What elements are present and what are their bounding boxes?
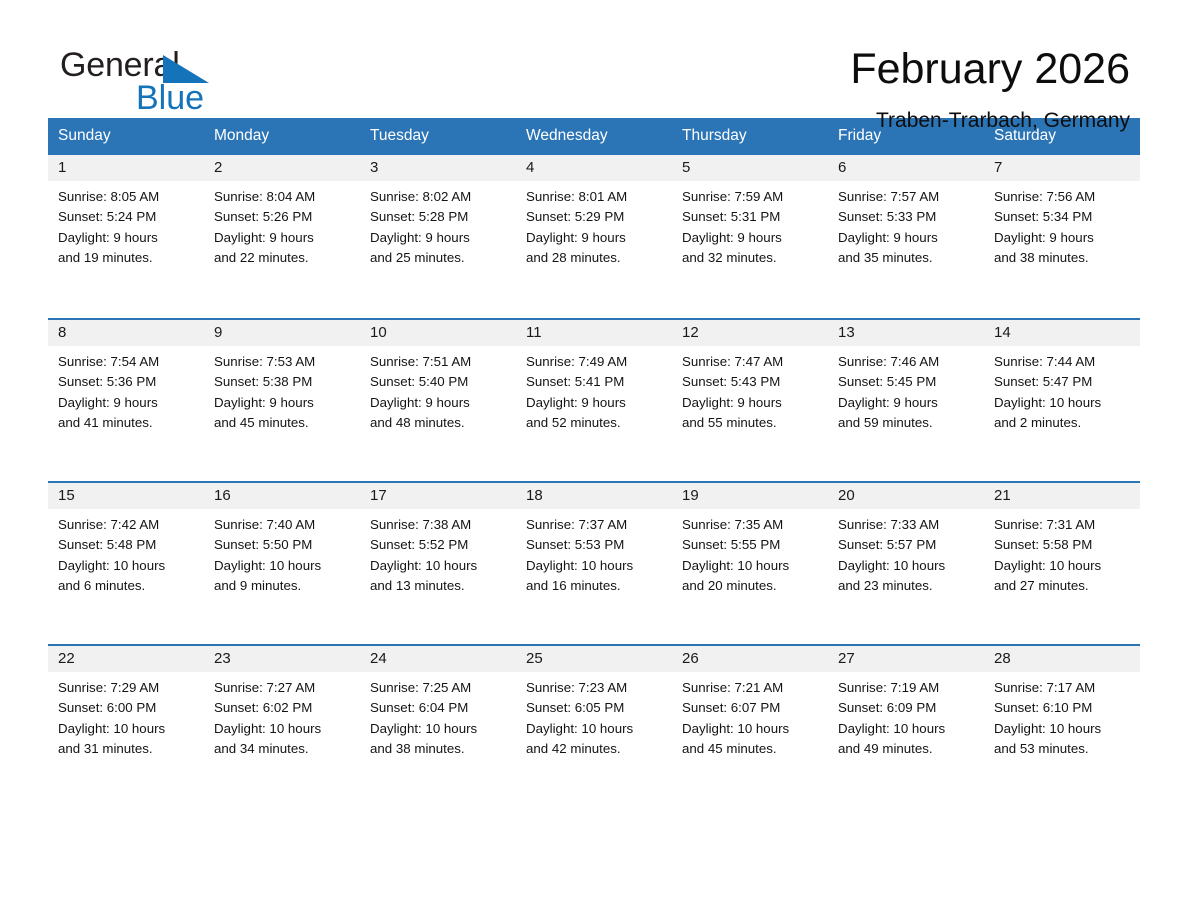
- sunset-text: Sunset: 5:57 PM: [838, 535, 976, 555]
- day-number: 1: [58, 159, 66, 176]
- sunset-text: Sunset: 5:38 PM: [214, 372, 352, 392]
- day-number-band: 23: [204, 646, 360, 672]
- sunset-text: Sunset: 6:02 PM: [214, 698, 352, 718]
- daylight-text-line1: Daylight: 10 hours: [838, 556, 976, 576]
- day-cell[interactable]: 3 Sunrise: 8:02 AM Sunset: 5:28 PM Dayli…: [360, 155, 516, 318]
- day-details: Sunrise: 8:05 AM Sunset: 5:24 PM Dayligh…: [48, 181, 204, 269]
- daylight-text-line2: and 45 minutes.: [682, 739, 820, 759]
- daylight-text-line1: Daylight: 9 hours: [994, 228, 1132, 248]
- table-cell[interactable]: 11 Sunrise: 7:49 AM Sunset: 5:41 PM Dayl…: [516, 318, 672, 481]
- day-cell[interactable]: 17 Sunrise: 7:38 AM Sunset: 5:52 PM Dayl…: [360, 481, 516, 644]
- daylight-text-line1: Daylight: 9 hours: [526, 393, 664, 413]
- day-number: 18: [526, 487, 543, 504]
- table-cell[interactable]: 20 Sunrise: 7:33 AM Sunset: 5:57 PM Dayl…: [828, 481, 984, 644]
- day-details: Sunrise: 7:47 AM Sunset: 5:43 PM Dayligh…: [672, 346, 828, 434]
- sunrise-text: Sunrise: 7:49 AM: [526, 352, 664, 372]
- day-number: 15: [58, 487, 75, 504]
- sunset-text: Sunset: 5:55 PM: [682, 535, 820, 555]
- calendar-week-row: 15 Sunrise: 7:42 AM Sunset: 5:48 PM Dayl…: [48, 481, 1140, 644]
- sunset-text: Sunset: 5:40 PM: [370, 372, 508, 392]
- day-cell[interactable]: 10 Sunrise: 7:51 AM Sunset: 5:40 PM Dayl…: [360, 318, 516, 481]
- weekday-header-thursday: Thursday: [672, 118, 828, 155]
- daylight-text-line1: Daylight: 9 hours: [370, 393, 508, 413]
- day-number-band: 9: [204, 320, 360, 346]
- sunset-text: Sunset: 6:04 PM: [370, 698, 508, 718]
- table-cell[interactable]: 18 Sunrise: 7:37 AM Sunset: 5:53 PM Dayl…: [516, 481, 672, 644]
- daylight-text-line1: Daylight: 10 hours: [58, 556, 196, 576]
- daylight-text-line1: Daylight: 9 hours: [838, 393, 976, 413]
- sunset-text: Sunset: 5:36 PM: [58, 372, 196, 392]
- sunset-text: Sunset: 5:34 PM: [994, 207, 1132, 227]
- day-number: 10: [370, 324, 387, 341]
- daylight-text-line2: and 27 minutes.: [994, 576, 1132, 596]
- calendar-page: General Blue February 2026 Traben-Trarba…: [0, 0, 1188, 918]
- day-number-band: 27: [828, 646, 984, 672]
- sunrise-text: Sunrise: 7:47 AM: [682, 352, 820, 372]
- day-number: 17: [370, 487, 387, 504]
- daylight-text-line1: Daylight: 10 hours: [370, 719, 508, 739]
- table-cell[interactable]: 16 Sunrise: 7:40 AM Sunset: 5:50 PM Dayl…: [204, 481, 360, 644]
- daylight-text-line1: Daylight: 10 hours: [214, 719, 352, 739]
- day-number: 26: [682, 650, 699, 667]
- day-cell[interactable]: 23 Sunrise: 7:27 AM Sunset: 6:02 PM Dayl…: [204, 644, 360, 807]
- sunset-text: Sunset: 6:10 PM: [994, 698, 1132, 718]
- daylight-text-line1: Daylight: 9 hours: [370, 228, 508, 248]
- day-cell[interactable]: 14 Sunrise: 7:44 AM Sunset: 5:47 PM Dayl…: [984, 318, 1140, 481]
- table-cell[interactable]: 1 Sunrise: 8:05 AM Sunset: 5:24 PM Dayli…: [48, 155, 204, 318]
- daylight-text-line2: and 25 minutes.: [370, 248, 508, 268]
- day-details: Sunrise: 7:46 AM Sunset: 5:45 PM Dayligh…: [828, 346, 984, 434]
- day-number: 7: [994, 159, 1002, 176]
- daylight-text-line1: Daylight: 9 hours: [58, 228, 196, 248]
- day-cell[interactable]: 7 Sunrise: 7:56 AM Sunset: 5:34 PM Dayli…: [984, 155, 1140, 318]
- table-cell[interactable]: 25 Sunrise: 7:23 AM Sunset: 6:05 PM Dayl…: [516, 644, 672, 807]
- sunset-text: Sunset: 5:47 PM: [994, 372, 1132, 392]
- day-number: 25: [526, 650, 543, 667]
- day-details: Sunrise: 7:51 AM Sunset: 5:40 PM Dayligh…: [360, 346, 516, 434]
- day-details: Sunrise: 7:42 AM Sunset: 5:48 PM Dayligh…: [48, 509, 204, 597]
- sunset-text: Sunset: 5:58 PM: [994, 535, 1132, 555]
- daylight-text-line2: and 59 minutes.: [838, 413, 976, 433]
- day-number: 19: [682, 487, 699, 504]
- day-cell[interactable]: 2 Sunrise: 8:04 AM Sunset: 5:26 PM Dayli…: [204, 155, 360, 318]
- page-header: General Blue February 2026 Traben-Trarba…: [48, 0, 1140, 118]
- day-number-band: 7: [984, 155, 1140, 181]
- day-cell[interactable]: 15 Sunrise: 7:42 AM Sunset: 5:48 PM Dayl…: [48, 481, 204, 644]
- day-cell[interactable]: 4 Sunrise: 8:01 AM Sunset: 5:29 PM Dayli…: [516, 155, 672, 318]
- sunrise-text: Sunrise: 8:01 AM: [526, 187, 664, 207]
- day-details: Sunrise: 8:02 AM Sunset: 5:28 PM Dayligh…: [360, 181, 516, 269]
- day-details: Sunrise: 7:44 AM Sunset: 5:47 PM Dayligh…: [984, 346, 1140, 434]
- day-details: Sunrise: 7:49 AM Sunset: 5:41 PM Dayligh…: [516, 346, 672, 434]
- day-cell[interactable]: 8 Sunrise: 7:54 AM Sunset: 5:36 PM Dayli…: [48, 318, 204, 481]
- daylight-text-line1: Daylight: 9 hours: [838, 228, 976, 248]
- day-number-band: 10: [360, 320, 516, 346]
- daylight-text-line1: Daylight: 9 hours: [214, 228, 352, 248]
- location-subtitle: Traben-Trarbach, Germany: [850, 108, 1130, 134]
- day-number: 20: [838, 487, 855, 504]
- table-cell[interactable]: 7 Sunrise: 7:56 AM Sunset: 5:34 PM Dayli…: [984, 155, 1140, 318]
- sunset-text: Sunset: 6:00 PM: [58, 698, 196, 718]
- sunset-text: Sunset: 6:09 PM: [838, 698, 976, 718]
- sunset-text: Sunset: 5:33 PM: [838, 207, 976, 227]
- day-cell[interactable]: 18 Sunrise: 7:37 AM Sunset: 5:53 PM Dayl…: [516, 481, 672, 644]
- table-cell[interactable]: 3 Sunrise: 8:02 AM Sunset: 5:28 PM Dayli…: [360, 155, 516, 318]
- day-number-band: 13: [828, 320, 984, 346]
- table-cell[interactable]: 15 Sunrise: 7:42 AM Sunset: 5:48 PM Dayl…: [48, 481, 204, 644]
- table-cell[interactable]: 28 Sunrise: 7:17 AM Sunset: 6:10 PM Dayl…: [984, 644, 1140, 807]
- daylight-text-line2: and 9 minutes.: [214, 576, 352, 596]
- day-number: 24: [370, 650, 387, 667]
- day-cell[interactable]: 28 Sunrise: 7:17 AM Sunset: 6:10 PM Dayl…: [984, 644, 1140, 807]
- day-number-band: 25: [516, 646, 672, 672]
- daylight-text-line1: Daylight: 10 hours: [994, 556, 1132, 576]
- daylight-text-line2: and 2 minutes.: [994, 413, 1132, 433]
- table-cell[interactable]: 23 Sunrise: 7:27 AM Sunset: 6:02 PM Dayl…: [204, 644, 360, 807]
- day-cell[interactable]: 12 Sunrise: 7:47 AM Sunset: 5:43 PM Dayl…: [672, 318, 828, 481]
- day-cell[interactable]: 21 Sunrise: 7:31 AM Sunset: 5:58 PM Dayl…: [984, 481, 1140, 644]
- day-number-band: 19: [672, 483, 828, 509]
- daylight-text-line2: and 55 minutes.: [682, 413, 820, 433]
- sunrise-text: Sunrise: 7:19 AM: [838, 678, 976, 698]
- calendar-body: 1 Sunrise: 8:05 AM Sunset: 5:24 PM Dayli…: [48, 155, 1140, 807]
- sunset-text: Sunset: 5:43 PM: [682, 372, 820, 392]
- daylight-text-line2: and 49 minutes.: [838, 739, 976, 759]
- daylight-text-line2: and 42 minutes.: [526, 739, 664, 759]
- logo-text-general-row: General: [60, 48, 270, 82]
- daylight-text-line1: Daylight: 10 hours: [838, 719, 976, 739]
- day-number-band: 8: [48, 320, 204, 346]
- daylight-text-line1: Daylight: 10 hours: [682, 719, 820, 739]
- sunrise-text: Sunrise: 7:27 AM: [214, 678, 352, 698]
- day-details: Sunrise: 7:40 AM Sunset: 5:50 PM Dayligh…: [204, 509, 360, 597]
- day-cell[interactable]: 16 Sunrise: 7:40 AM Sunset: 5:50 PM Dayl…: [204, 481, 360, 644]
- day-details: Sunrise: 7:53 AM Sunset: 5:38 PM Dayligh…: [204, 346, 360, 434]
- sunrise-text: Sunrise: 7:59 AM: [682, 187, 820, 207]
- sunrise-text: Sunrise: 7:29 AM: [58, 678, 196, 698]
- table-cell[interactable]: 26 Sunrise: 7:21 AM Sunset: 6:07 PM Dayl…: [672, 644, 828, 807]
- day-number: 4: [526, 159, 534, 176]
- title-block: February 2026 Traben-Trarbach, Germany: [850, 44, 1130, 134]
- sunrise-text: Sunrise: 7:38 AM: [370, 515, 508, 535]
- day-number-band: 5: [672, 155, 828, 181]
- daylight-text-line2: and 38 minutes.: [370, 739, 508, 759]
- generalblue-logo[interactable]: General Blue: [60, 48, 270, 120]
- sunrise-text: Sunrise: 8:02 AM: [370, 187, 508, 207]
- day-number: 2: [214, 159, 222, 176]
- calendar-week-row: 8 Sunrise: 7:54 AM Sunset: 5:36 PM Dayli…: [48, 318, 1140, 481]
- sunset-text: Sunset: 5:52 PM: [370, 535, 508, 555]
- sunrise-text: Sunrise: 7:54 AM: [58, 352, 196, 372]
- table-cell[interactable]: 24 Sunrise: 7:25 AM Sunset: 6:04 PM Dayl…: [360, 644, 516, 807]
- day-details: Sunrise: 7:31 AM Sunset: 5:58 PM Dayligh…: [984, 509, 1140, 597]
- day-number: 23: [214, 650, 231, 667]
- day-cell[interactable]: 22 Sunrise: 7:29 AM Sunset: 6:00 PM Dayl…: [48, 644, 204, 807]
- daylight-text-line2: and 32 minutes.: [682, 248, 820, 268]
- sunset-text: Sunset: 5:53 PM: [526, 535, 664, 555]
- daylight-text-line2: and 13 minutes.: [370, 576, 508, 596]
- daylight-text-line1: Daylight: 10 hours: [526, 719, 664, 739]
- daylight-text-line1: Daylight: 9 hours: [214, 393, 352, 413]
- daylight-text-line2: and 53 minutes.: [994, 739, 1132, 759]
- day-details: Sunrise: 7:33 AM Sunset: 5:57 PM Dayligh…: [828, 509, 984, 597]
- day-number-band: 6: [828, 155, 984, 181]
- table-cell[interactable]: 27 Sunrise: 7:19 AM Sunset: 6:09 PM Dayl…: [828, 644, 984, 807]
- sunrise-text: Sunrise: 7:25 AM: [370, 678, 508, 698]
- table-cell[interactable]: 6 Sunrise: 7:57 AM Sunset: 5:33 PM Dayli…: [828, 155, 984, 318]
- day-cell[interactable]: 19 Sunrise: 7:35 AM Sunset: 5:55 PM Dayl…: [672, 481, 828, 644]
- day-number-band: 12: [672, 320, 828, 346]
- day-cell[interactable]: 24 Sunrise: 7:25 AM Sunset: 6:04 PM Dayl…: [360, 644, 516, 807]
- day-number-band: 20: [828, 483, 984, 509]
- day-cell[interactable]: 5 Sunrise: 7:59 AM Sunset: 5:31 PM Dayli…: [672, 155, 828, 318]
- day-number-band: 26: [672, 646, 828, 672]
- day-number: 6: [838, 159, 846, 176]
- day-details: Sunrise: 7:56 AM Sunset: 5:34 PM Dayligh…: [984, 181, 1140, 269]
- daylight-text-line1: Daylight: 10 hours: [994, 719, 1132, 739]
- day-cell[interactable]: 20 Sunrise: 7:33 AM Sunset: 5:57 PM Dayl…: [828, 481, 984, 644]
- sunset-text: Sunset: 5:26 PM: [214, 207, 352, 227]
- sunrise-text: Sunrise: 7:44 AM: [994, 352, 1132, 372]
- sunset-text: Sunset: 5:48 PM: [58, 535, 196, 555]
- day-number-band: 21: [984, 483, 1140, 509]
- day-number-band: 1: [48, 155, 204, 181]
- day-cell[interactable]: 11 Sunrise: 7:49 AM Sunset: 5:41 PM Dayl…: [516, 318, 672, 481]
- day-number: 3: [370, 159, 378, 176]
- sunrise-text: Sunrise: 7:51 AM: [370, 352, 508, 372]
- day-number-band: 24: [360, 646, 516, 672]
- sunrise-text: Sunrise: 7:56 AM: [994, 187, 1132, 207]
- table-cell[interactable]: 19 Sunrise: 7:35 AM Sunset: 5:55 PM Dayl…: [672, 481, 828, 644]
- sunset-text: Sunset: 5:29 PM: [526, 207, 664, 227]
- sunrise-text: Sunrise: 8:05 AM: [58, 187, 196, 207]
- day-details: Sunrise: 7:29 AM Sunset: 6:00 PM Dayligh…: [48, 672, 204, 760]
- day-number: 22: [58, 650, 75, 667]
- day-cell[interactable]: 1 Sunrise: 8:05 AM Sunset: 5:24 PM Dayli…: [48, 155, 204, 318]
- sunrise-text: Sunrise: 7:42 AM: [58, 515, 196, 535]
- calendar-week-row: 1 Sunrise: 8:05 AM Sunset: 5:24 PM Dayli…: [48, 155, 1140, 318]
- sunrise-text: Sunrise: 7:17 AM: [994, 678, 1132, 698]
- table-cell[interactable]: 5 Sunrise: 7:59 AM Sunset: 5:31 PM Dayli…: [672, 155, 828, 318]
- daylight-text-line1: Daylight: 10 hours: [370, 556, 508, 576]
- daylight-text-line1: Daylight: 9 hours: [682, 228, 820, 248]
- daylight-text-line2: and 35 minutes.: [838, 248, 976, 268]
- table-cell[interactable]: 12 Sunrise: 7:47 AM Sunset: 5:43 PM Dayl…: [672, 318, 828, 481]
- day-number-band: 18: [516, 483, 672, 509]
- daylight-text-line1: Daylight: 9 hours: [58, 393, 196, 413]
- day-details: Sunrise: 7:35 AM Sunset: 5:55 PM Dayligh…: [672, 509, 828, 597]
- day-number-band: 17: [360, 483, 516, 509]
- daylight-text-line1: Daylight: 9 hours: [526, 228, 664, 248]
- table-cell[interactable]: 9 Sunrise: 7:53 AM Sunset: 5:38 PM Dayli…: [204, 318, 360, 481]
- sunrise-text: Sunrise: 7:40 AM: [214, 515, 352, 535]
- page-title: February 2026: [850, 44, 1130, 94]
- daylight-text-line2: and 28 minutes.: [526, 248, 664, 268]
- daylight-text-line2: and 20 minutes.: [682, 576, 820, 596]
- day-number-band: 22: [48, 646, 204, 672]
- day-details: Sunrise: 7:23 AM Sunset: 6:05 PM Dayligh…: [516, 672, 672, 760]
- sunset-text: Sunset: 5:50 PM: [214, 535, 352, 555]
- sunrise-sunset-calendar: Sunday Monday Tuesday Wednesday Thursday…: [48, 118, 1140, 807]
- daylight-text-line1: Daylight: 10 hours: [214, 556, 352, 576]
- weekday-header-sunday: Sunday: [48, 118, 204, 155]
- day-details: Sunrise: 8:01 AM Sunset: 5:29 PM Dayligh…: [516, 181, 672, 269]
- daylight-text-line2: and 19 minutes.: [58, 248, 196, 268]
- sunset-text: Sunset: 6:07 PM: [682, 698, 820, 718]
- sunset-text: Sunset: 6:05 PM: [526, 698, 664, 718]
- day-cell[interactable]: 9 Sunrise: 7:53 AM Sunset: 5:38 PM Dayli…: [204, 318, 360, 481]
- day-details: Sunrise: 7:25 AM Sunset: 6:04 PM Dayligh…: [360, 672, 516, 760]
- day-details: Sunrise: 7:21 AM Sunset: 6:07 PM Dayligh…: [672, 672, 828, 760]
- table-cell[interactable]: 13 Sunrise: 7:46 AM Sunset: 5:45 PM Dayl…: [828, 318, 984, 481]
- sunrise-text: Sunrise: 7:46 AM: [838, 352, 976, 372]
- table-cell[interactable]: 17 Sunrise: 7:38 AM Sunset: 5:52 PM Dayl…: [360, 481, 516, 644]
- sunset-text: Sunset: 5:24 PM: [58, 207, 196, 227]
- calendar-week-row: 22 Sunrise: 7:29 AM Sunset: 6:00 PM Dayl…: [48, 644, 1140, 807]
- day-details: Sunrise: 8:04 AM Sunset: 5:26 PM Dayligh…: [204, 181, 360, 269]
- day-details: Sunrise: 7:59 AM Sunset: 5:31 PM Dayligh…: [672, 181, 828, 269]
- sunrise-text: Sunrise: 7:35 AM: [682, 515, 820, 535]
- daylight-text-line1: Daylight: 9 hours: [682, 393, 820, 413]
- day-number: 9: [214, 324, 222, 341]
- day-number: 11: [526, 324, 542, 341]
- day-number-band: 16: [204, 483, 360, 509]
- day-number: 14: [994, 324, 1011, 341]
- sunrise-text: Sunrise: 7:21 AM: [682, 678, 820, 698]
- daylight-text-line2: and 31 minutes.: [58, 739, 196, 759]
- day-cell[interactable]: 13 Sunrise: 7:46 AM Sunset: 5:45 PM Dayl…: [828, 318, 984, 481]
- sunrise-text: Sunrise: 7:31 AM: [994, 515, 1132, 535]
- table-cell[interactable]: 10 Sunrise: 7:51 AM Sunset: 5:40 PM Dayl…: [360, 318, 516, 481]
- table-cell[interactable]: 4 Sunrise: 8:01 AM Sunset: 5:29 PM Dayli…: [516, 155, 672, 318]
- day-number: 8: [58, 324, 66, 341]
- day-number: 27: [838, 650, 855, 667]
- table-cell[interactable]: 22 Sunrise: 7:29 AM Sunset: 6:00 PM Dayl…: [48, 644, 204, 807]
- daylight-text-line2: and 6 minutes.: [58, 576, 196, 596]
- daylight-text-line2: and 22 minutes.: [214, 248, 352, 268]
- day-number-band: 28: [984, 646, 1140, 672]
- sunrise-text: Sunrise: 7:23 AM: [526, 678, 664, 698]
- day-details: Sunrise: 7:27 AM Sunset: 6:02 PM Dayligh…: [204, 672, 360, 760]
- day-number-band: 3: [360, 155, 516, 181]
- table-cell[interactable]: 14 Sunrise: 7:44 AM Sunset: 5:47 PM Dayl…: [984, 318, 1140, 481]
- day-cell[interactable]: 27 Sunrise: 7:19 AM Sunset: 6:09 PM Dayl…: [828, 644, 984, 807]
- day-number-band: 14: [984, 320, 1140, 346]
- weekday-header-monday: Monday: [204, 118, 360, 155]
- daylight-text-line2: and 34 minutes.: [214, 739, 352, 759]
- sunrise-text: Sunrise: 8:04 AM: [214, 187, 352, 207]
- daylight-text-line2: and 52 minutes.: [526, 413, 664, 433]
- daylight-text-line1: Daylight: 10 hours: [526, 556, 664, 576]
- daylight-text-line2: and 48 minutes.: [370, 413, 508, 433]
- sunrise-text: Sunrise: 7:33 AM: [838, 515, 976, 535]
- day-number: 21: [994, 487, 1011, 504]
- sunset-text: Sunset: 5:45 PM: [838, 372, 976, 392]
- daylight-text-line1: Daylight: 10 hours: [682, 556, 820, 576]
- sunrise-text: Sunrise: 7:37 AM: [526, 515, 664, 535]
- table-cell[interactable]: 8 Sunrise: 7:54 AM Sunset: 5:36 PM Dayli…: [48, 318, 204, 481]
- day-cell[interactable]: 26 Sunrise: 7:21 AM Sunset: 6:07 PM Dayl…: [672, 644, 828, 807]
- daylight-text-line2: and 41 minutes.: [58, 413, 196, 433]
- sunset-text: Sunset: 5:28 PM: [370, 207, 508, 227]
- day-number-band: 11: [516, 320, 672, 346]
- day-details: Sunrise: 7:38 AM Sunset: 5:52 PM Dayligh…: [360, 509, 516, 597]
- logo-text-blue: Blue: [136, 81, 204, 115]
- daylight-text-line2: and 38 minutes.: [994, 248, 1132, 268]
- daylight-text-line1: Daylight: 10 hours: [58, 719, 196, 739]
- weekday-header-tuesday: Tuesday: [360, 118, 516, 155]
- day-details: Sunrise: 7:54 AM Sunset: 5:36 PM Dayligh…: [48, 346, 204, 434]
- sunset-text: Sunset: 5:31 PM: [682, 207, 820, 227]
- day-number-band: 2: [204, 155, 360, 181]
- day-number-band: 4: [516, 155, 672, 181]
- day-number: 5: [682, 159, 690, 176]
- table-cell[interactable]: 2 Sunrise: 8:04 AM Sunset: 5:26 PM Dayli…: [204, 155, 360, 318]
- daylight-text-line2: and 45 minutes.: [214, 413, 352, 433]
- day-number-band: 15: [48, 483, 204, 509]
- day-number: 28: [994, 650, 1011, 667]
- day-number: 13: [838, 324, 855, 341]
- daylight-text-line2: and 23 minutes.: [838, 576, 976, 596]
- table-cell[interactable]: 21 Sunrise: 7:31 AM Sunset: 5:58 PM Dayl…: [984, 481, 1140, 644]
- day-cell[interactable]: 25 Sunrise: 7:23 AM Sunset: 6:05 PM Dayl…: [516, 644, 672, 807]
- day-details: Sunrise: 7:17 AM Sunset: 6:10 PM Dayligh…: [984, 672, 1140, 760]
- daylight-text-line2: and 16 minutes.: [526, 576, 664, 596]
- sunrise-text: Sunrise: 7:53 AM: [214, 352, 352, 372]
- day-number: 12: [682, 324, 699, 341]
- day-number: 16: [214, 487, 231, 504]
- day-details: Sunrise: 7:19 AM Sunset: 6:09 PM Dayligh…: [828, 672, 984, 760]
- sunrise-text: Sunrise: 7:57 AM: [838, 187, 976, 207]
- daylight-text-line1: Daylight: 10 hours: [994, 393, 1132, 413]
- sunset-text: Sunset: 5:41 PM: [526, 372, 664, 392]
- weekday-header-wednesday: Wednesday: [516, 118, 672, 155]
- day-cell[interactable]: 6 Sunrise: 7:57 AM Sunset: 5:33 PM Dayli…: [828, 155, 984, 318]
- day-details: Sunrise: 7:57 AM Sunset: 5:33 PM Dayligh…: [828, 181, 984, 269]
- day-details: Sunrise: 7:37 AM Sunset: 5:53 PM Dayligh…: [516, 509, 672, 597]
